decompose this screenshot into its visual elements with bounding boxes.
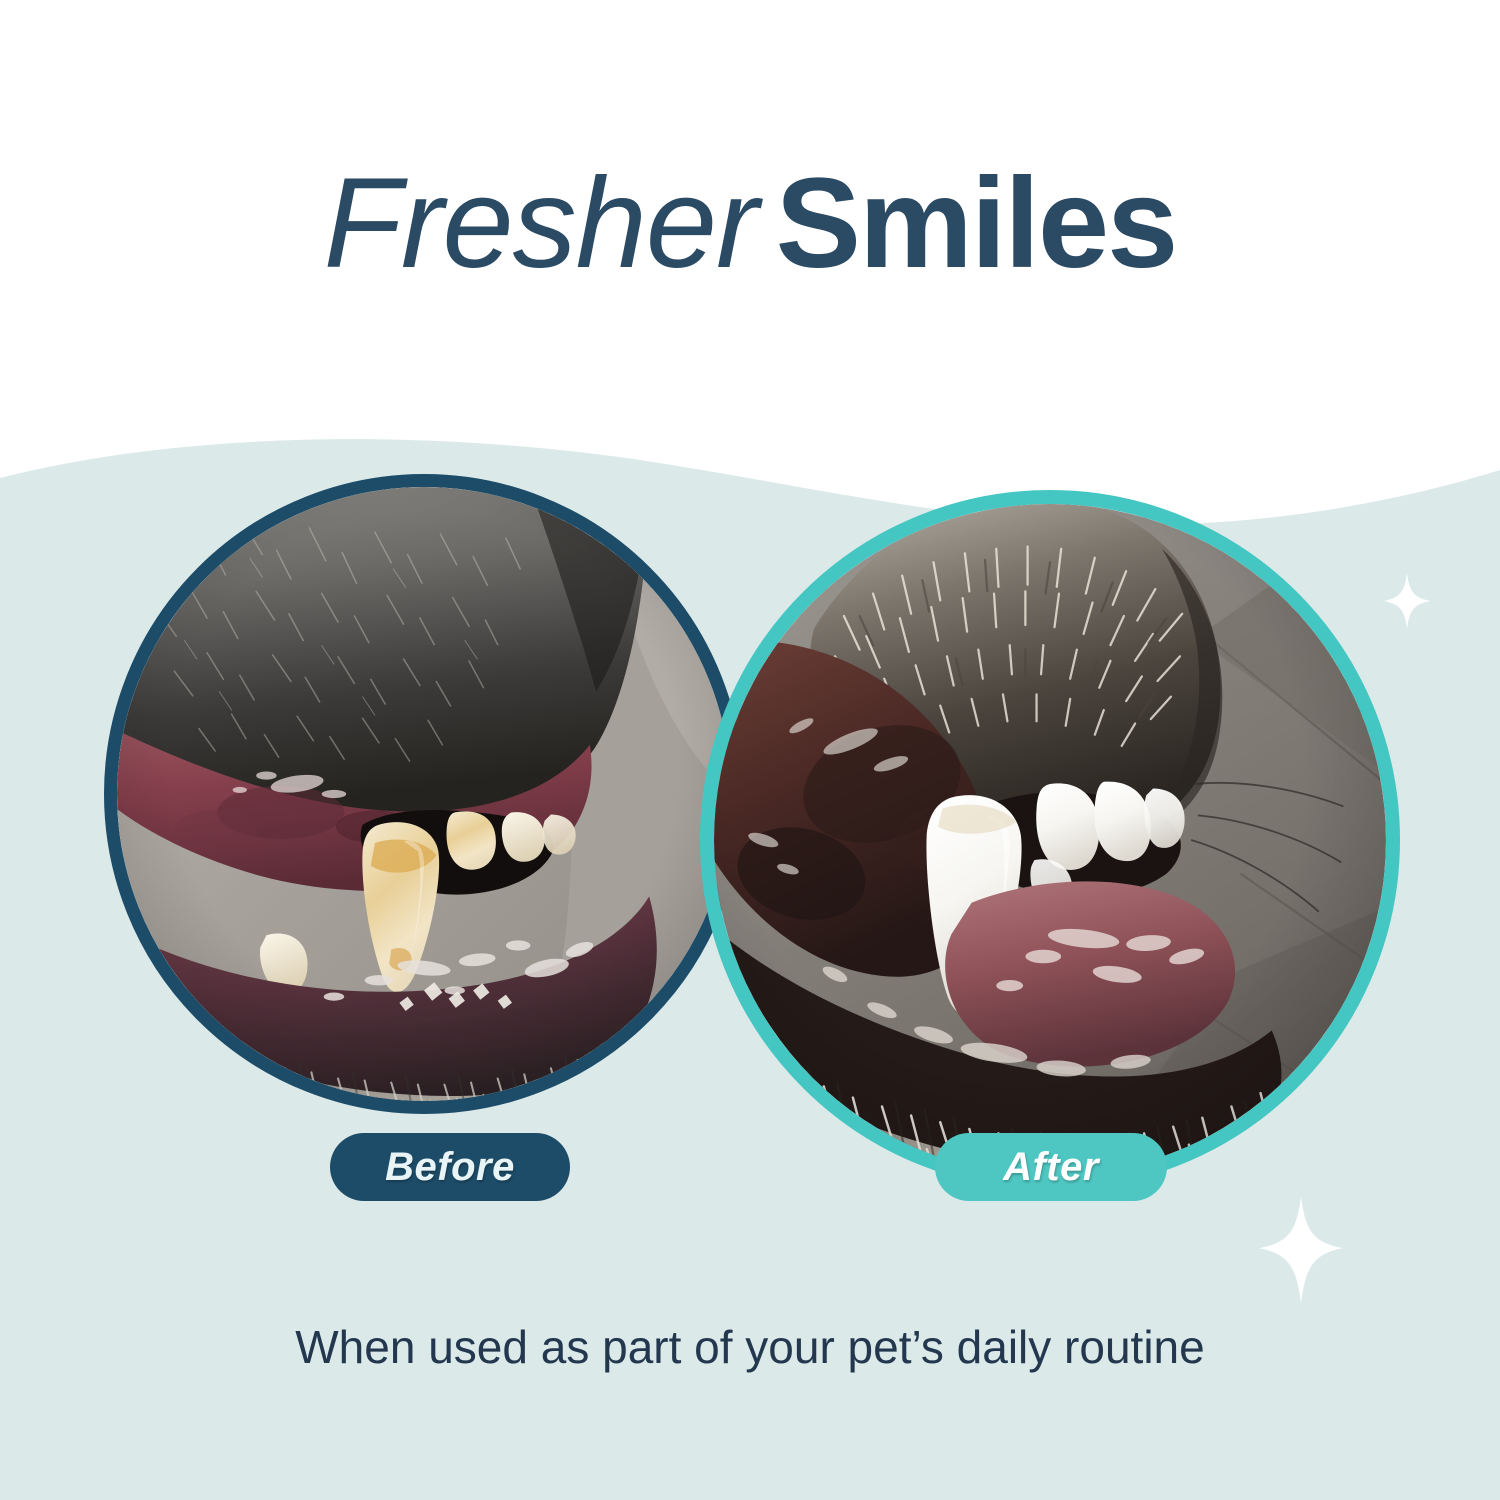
page-title-bold: Smiles: [776, 152, 1177, 295]
after-photo-ring: [700, 490, 1400, 1190]
before-photo-ring: [104, 474, 744, 1114]
before-photo: [117, 487, 731, 1101]
page-title: FresherSmiles: [0, 160, 1500, 288]
before-label-text: Before: [385, 1145, 515, 1190]
caption-text: When used as part of your pet’s daily ro…: [0, 1320, 1500, 1374]
after-photo-card: [700, 490, 1400, 1190]
after-photo: [714, 504, 1386, 1176]
before-label-badge: Before: [330, 1133, 570, 1201]
after-label-text: After: [1003, 1145, 1099, 1190]
page-title-light: Fresher: [324, 152, 758, 295]
before-photo-card: [104, 474, 744, 1114]
after-label-badge: After: [935, 1133, 1167, 1201]
sparkle-icon: [1255, 1195, 1347, 1305]
sparkle-icon: [1378, 572, 1436, 630]
